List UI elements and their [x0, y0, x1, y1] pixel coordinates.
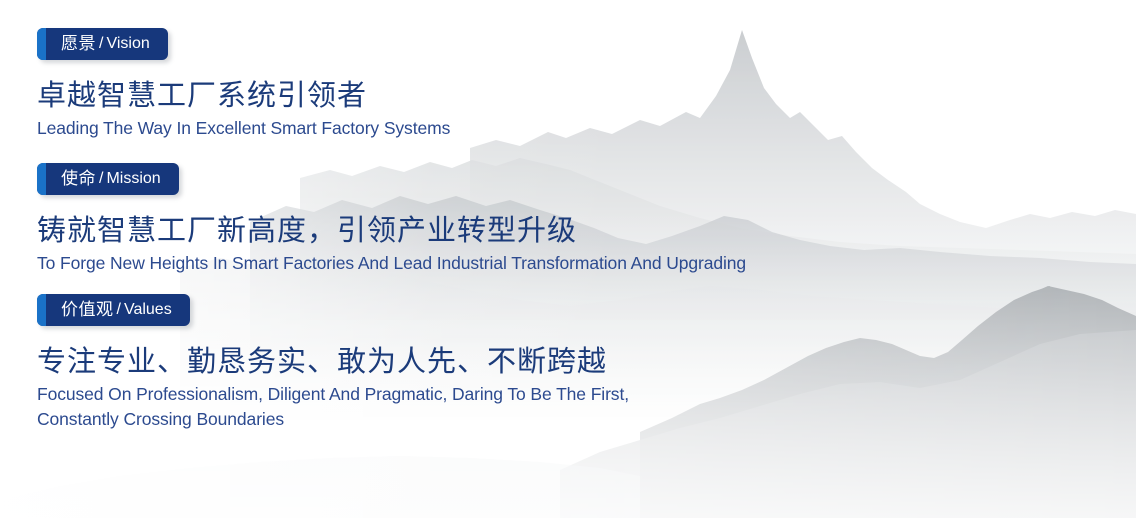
section-mission: 使命 / Mission 铸就智慧工厂新高度，引领产业转型升级 To Forge…: [37, 163, 746, 276]
vision-heading-en-line-1: Leading The Way In Excellent Smart Facto…: [37, 116, 450, 141]
badge-accent-bar: [37, 28, 46, 60]
badge-accent-bar: [37, 163, 46, 195]
section-vision: 愿景 / Vision 卓越智慧工厂系统引领者 Leading The Way …: [37, 28, 450, 141]
values-heading-cn: 专注专业、勤恳务实、敢为人先、不断跨越: [37, 346, 629, 378]
badge-mission-separator: /: [96, 170, 106, 188]
badge-vision-label-en: Vision: [106, 35, 149, 53]
badge-mission-label-en: Mission: [106, 170, 160, 188]
vision-heading-cn: 卓越智慧工厂系统引领者: [37, 80, 450, 112]
badge-vision: 愿景 / Vision: [37, 28, 168, 60]
badge-vision-separator: /: [96, 35, 106, 53]
badge-mission: 使命 / Mission: [37, 163, 179, 195]
values-heading-en-line-2: Constantly Crossing Boundaries: [37, 407, 629, 432]
values-heading-en: Focused On Professionalism, Diligent And…: [37, 382, 629, 432]
vision-heading-en: Leading The Way In Excellent Smart Facto…: [37, 116, 450, 141]
mission-heading-en: To Forge New Heights In Smart Factories …: [37, 251, 746, 276]
badge-values-separator: /: [114, 301, 124, 319]
content-area: 愿景 / Vision 卓越智慧工厂系统引领者 Leading The Way …: [0, 0, 1136, 518]
badge-values: 价值观 / Values: [37, 294, 190, 326]
section-values: 价值观 / Values 专注专业、勤恳务实、敢为人先、不断跨越 Focused…: [37, 294, 629, 432]
mission-heading-en-line-1: To Forge New Heights In Smart Factories …: [37, 251, 746, 276]
badge-values-label-en: Values: [124, 301, 172, 319]
vision-mission-values-banner: 愿景 / Vision 卓越智慧工厂系统引领者 Leading The Way …: [0, 0, 1136, 518]
badge-vision-label-cn: 愿景: [46, 28, 96, 60]
badge-values-label-cn: 价值观: [46, 294, 114, 326]
values-heading-en-line-1: Focused On Professionalism, Diligent And…: [37, 382, 629, 407]
badge-mission-label-cn: 使命: [46, 163, 96, 195]
mission-heading-cn: 铸就智慧工厂新高度，引领产业转型升级: [37, 215, 746, 247]
badge-accent-bar: [37, 294, 46, 326]
